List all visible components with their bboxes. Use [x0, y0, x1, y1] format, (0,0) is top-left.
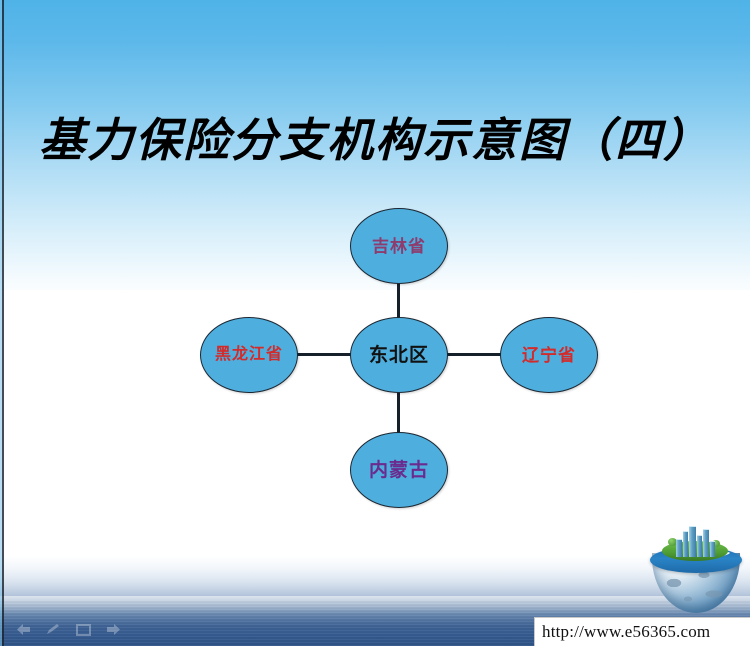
eco-city-globe-logo: [648, 527, 744, 613]
pen-tool-button[interactable]: [44, 622, 63, 637]
diagram-node-heilongjiang[interactable]: 黑龙江省: [200, 317, 298, 393]
connector-center-to-bottom: [397, 390, 400, 434]
diagram-node-northeast-region[interactable]: 东北区: [350, 317, 448, 393]
diagram-node-jilin[interactable]: 吉林省: [350, 208, 448, 284]
arrow-right-icon: [104, 622, 123, 637]
pen-icon: [44, 622, 63, 637]
city-skyline-icon: [676, 527, 716, 557]
presentation-slide: 基力保险分支机构示意图（四） 吉林省 黑龙江省 东北区 辽宁省 内蒙古: [0, 0, 750, 646]
arrow-left-icon: [14, 622, 33, 637]
slide-menu-button[interactable]: [74, 622, 93, 637]
slideshow-nav-controls: [14, 622, 123, 637]
diagram-node-label: 内蒙古: [369, 461, 429, 480]
connector-center-to-right: [444, 353, 502, 356]
watermark-url: http://www.e56365.com: [535, 622, 710, 642]
next-slide-button[interactable]: [104, 622, 123, 637]
org-structure-diagram: 吉林省 黑龙江省 东北区 辽宁省 内蒙古: [0, 0, 750, 646]
diagram-node-label: 辽宁省: [522, 347, 576, 364]
previous-slide-button[interactable]: [14, 622, 33, 637]
diagram-node-liaoning[interactable]: 辽宁省: [500, 317, 598, 393]
diagram-node-inner-mongolia[interactable]: 内蒙古: [350, 432, 448, 508]
watermark-bar: http://www.e56365.com: [534, 617, 750, 646]
connector-center-to-left: [294, 353, 354, 356]
diagram-node-label: 东北区: [369, 346, 429, 365]
diagram-node-label: 黑龙江省: [215, 347, 283, 363]
connector-center-to-top: [397, 282, 400, 320]
menu-box-icon: [74, 622, 93, 637]
diagram-node-label: 吉林省: [372, 238, 426, 255]
